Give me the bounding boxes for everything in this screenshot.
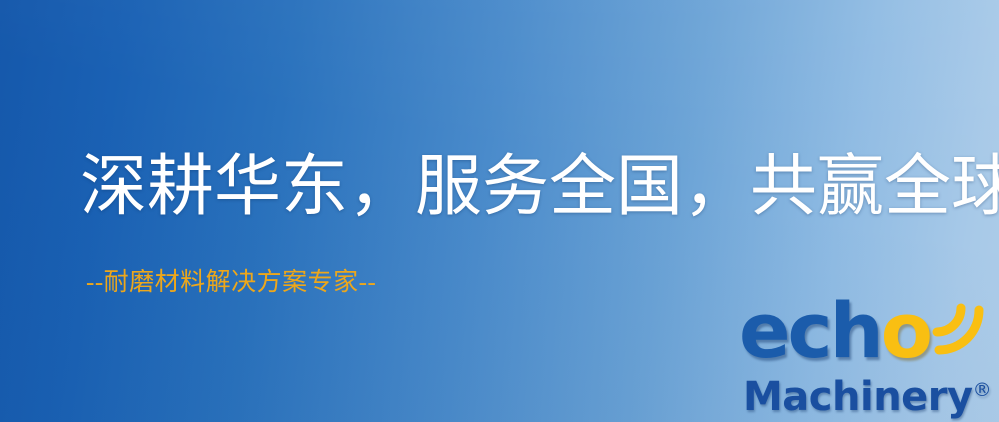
- banner-headline: 深耕华东，服务全国，共赢全球: [80, 150, 999, 225]
- logo-wordmark: echo: [733, 292, 991, 370]
- logo-brand-text: echo: [739, 292, 930, 370]
- logo-tagline: Machinery®: [743, 368, 992, 419]
- echo-wave-icon: [923, 294, 987, 356]
- registered-trademark-icon: ®: [973, 379, 992, 401]
- banner-subtitle: --耐磨材料解决方案专家--: [86, 268, 376, 298]
- company-logo[interactable]: echo Machinery®: [733, 288, 991, 420]
- hero-banner: 深耕华东，服务全国，共赢全球 --耐磨材料解决方案专家-- echo Machi…: [0, 0, 999, 422]
- logo-tagline-text: Machinery: [743, 374, 973, 420]
- logo-brand-prefix: ech: [739, 286, 881, 375]
